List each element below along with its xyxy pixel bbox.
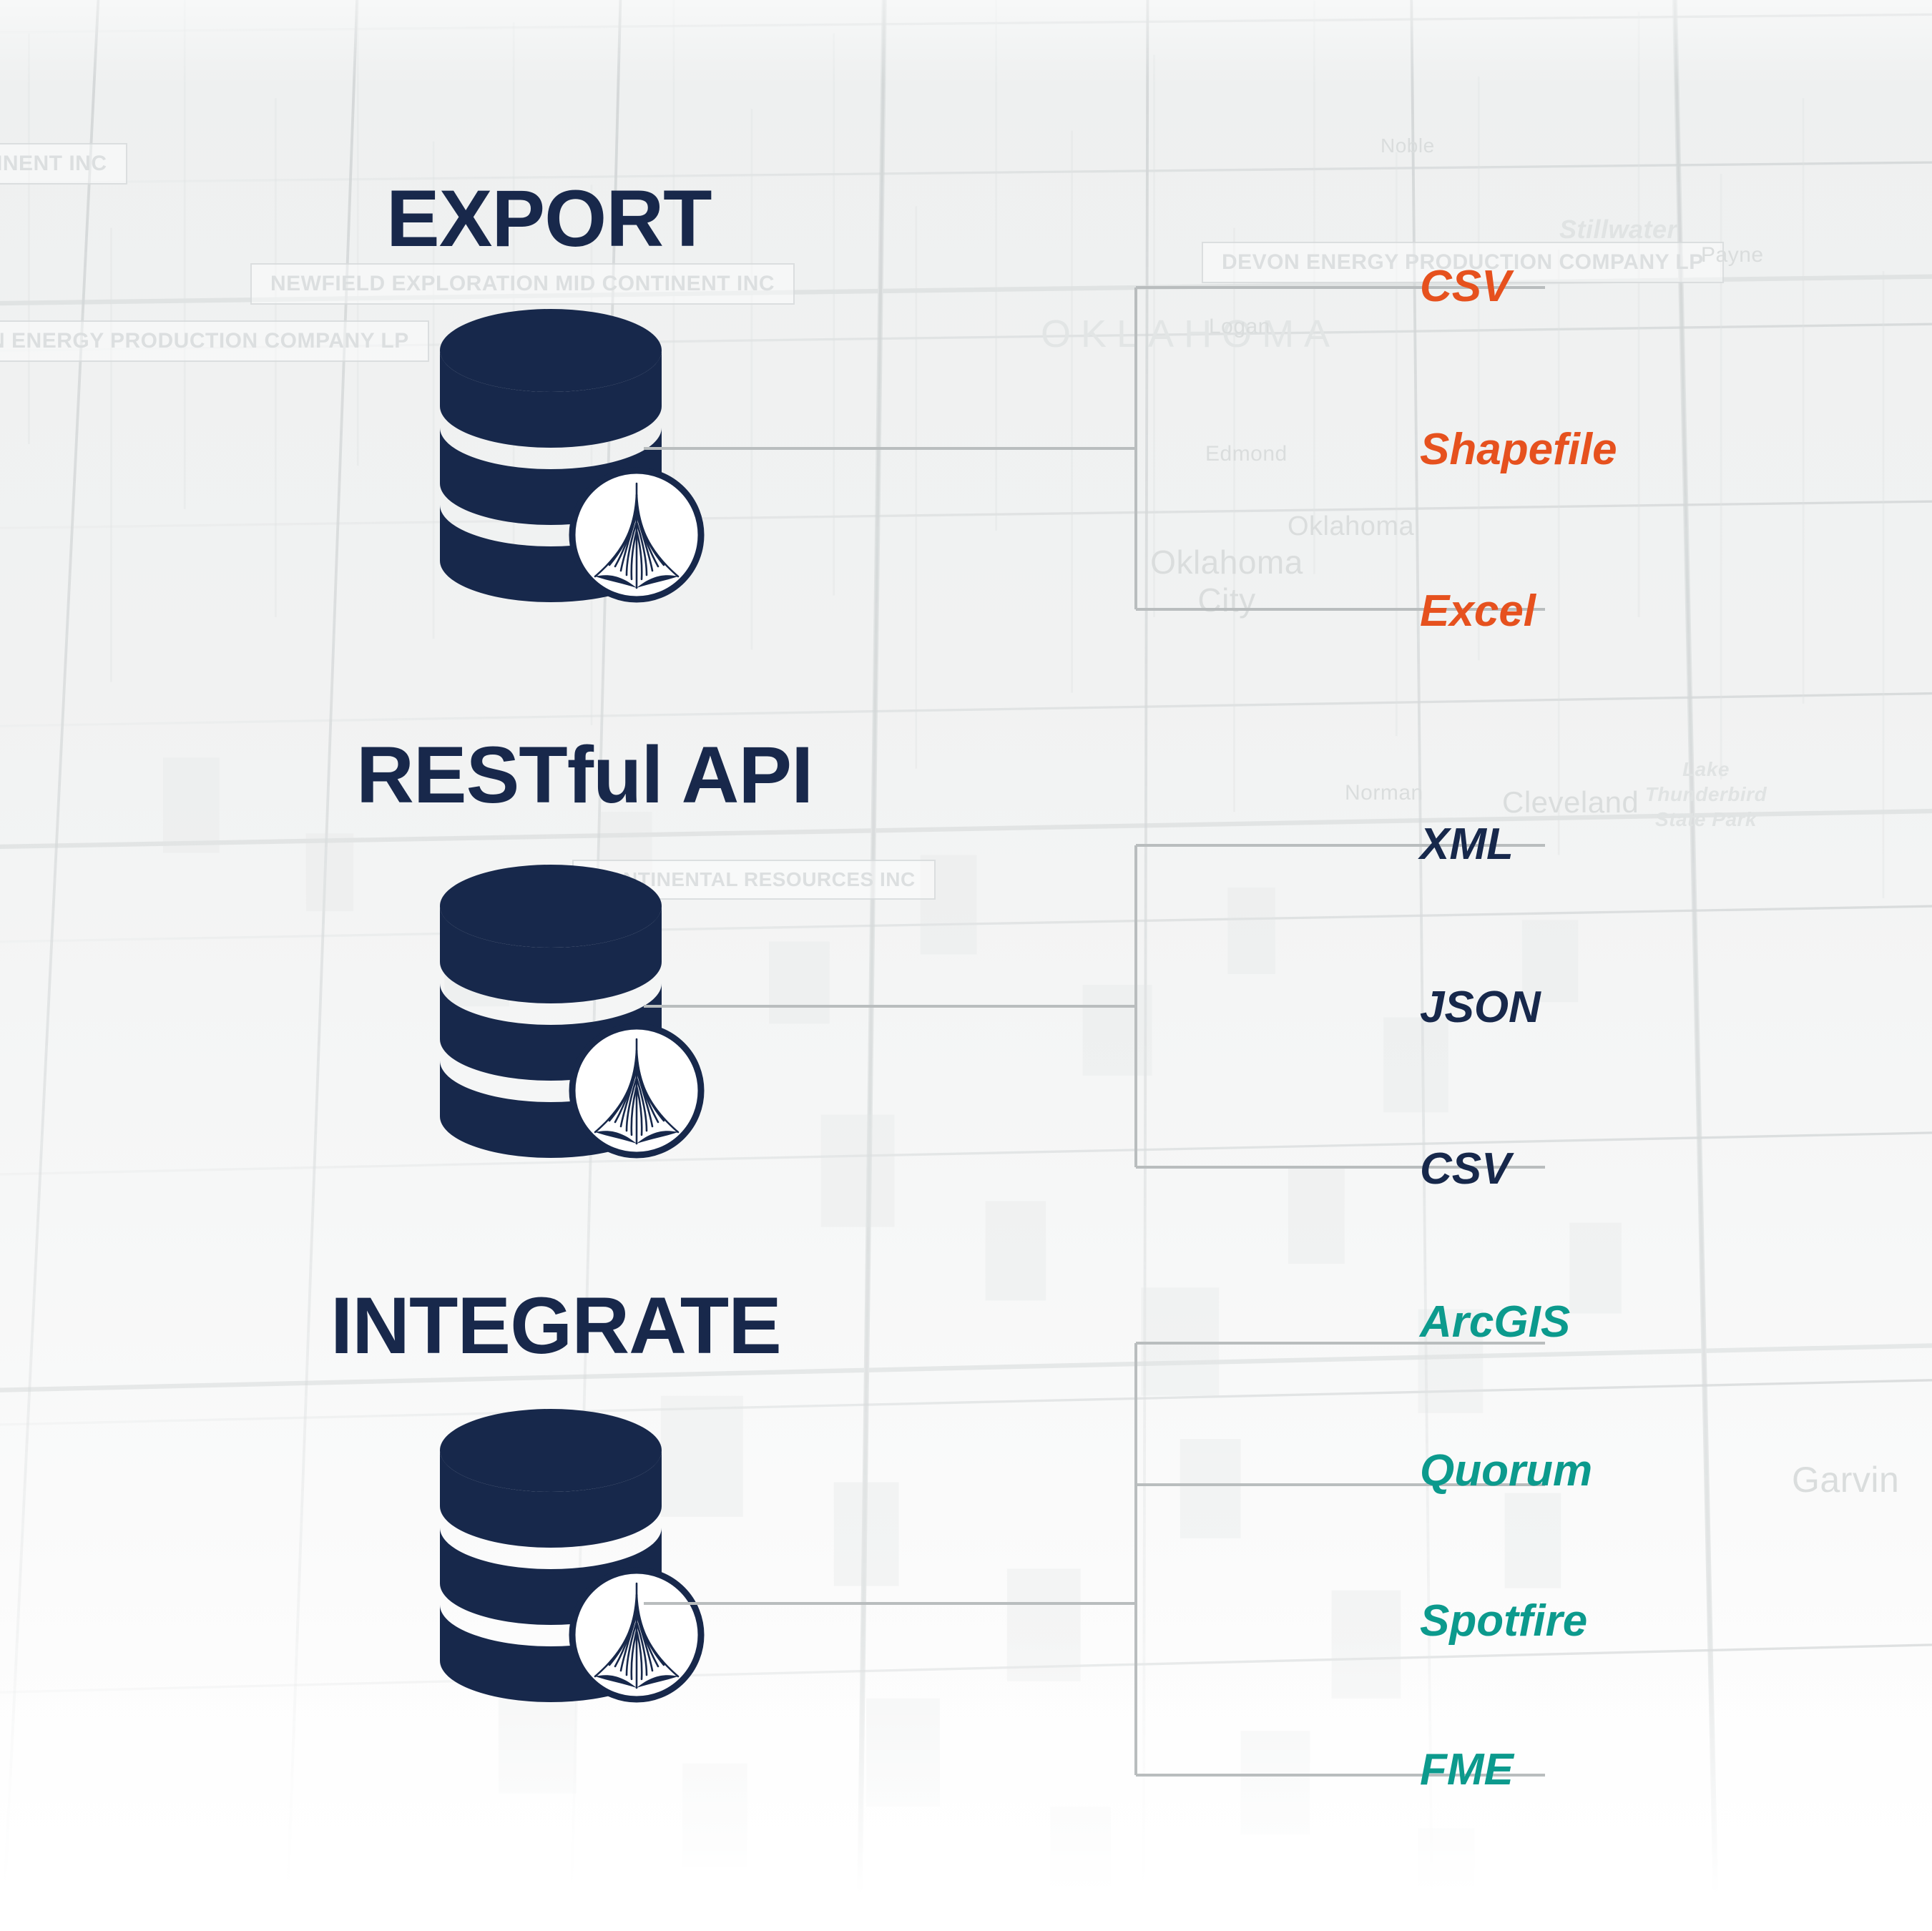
section-integrate: INTEGRATE — [0, 0, 1932, 644]
format-label-csv: CSV — [1420, 1147, 1511, 1191]
fan-logo-icon — [572, 1026, 701, 1155]
format-label-quorum: Quorum — [1420, 1449, 1592, 1493]
database-icon — [429, 863, 715, 1164]
section-heading-restful-api: RESTful API — [356, 735, 813, 815]
section-heading-integrate: INTEGRATE — [330, 1286, 781, 1366]
connector-bracket-integrate — [830, 1309, 1166, 1795]
format-label-json: JSON — [1420, 986, 1541, 1030]
connector-bracket-restful-api — [830, 830, 1166, 1187]
database-icon — [429, 1407, 715, 1708]
format-label-spotfire: Spotfire — [1420, 1599, 1587, 1643]
format-label-xml: XML — [1420, 822, 1514, 867]
format-label-fme: FME — [1420, 1748, 1514, 1792]
format-label-arcgis: ArcGIS — [1420, 1300, 1570, 1345]
fan-logo-icon — [572, 1571, 701, 1699]
